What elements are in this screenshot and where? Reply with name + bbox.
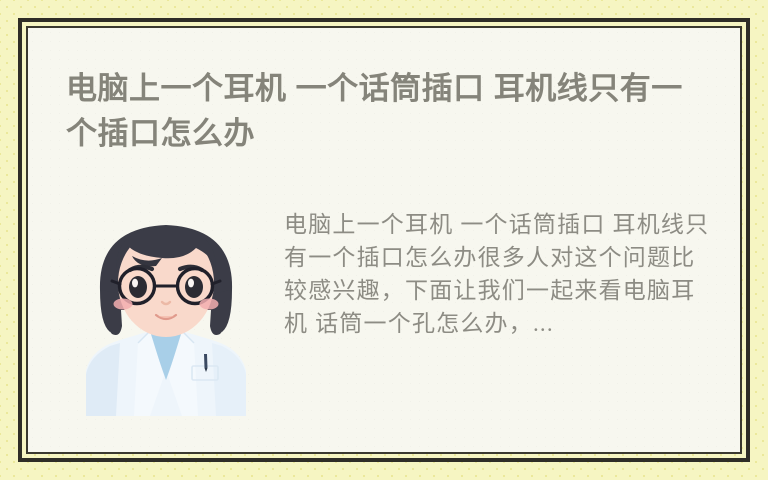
page-background: 电脑上一个耳机 一个话筒插口 耳机线只有一个插口怎么办 bbox=[0, 0, 768, 480]
article-card: 电脑上一个耳机 一个话筒插口 耳机线只有一个插口怎么办 bbox=[26, 26, 742, 454]
page-title: 电脑上一个耳机 一个话筒插口 耳机线只有一个插口怎么办 bbox=[66, 66, 696, 156]
woman-with-glasses-in-lab-coat-icon bbox=[76, 198, 256, 416]
article-summary-text: 电脑上一个耳机 一个话筒插口 耳机线只有一个插口怎么办很多人对这个问题比较感兴趣… bbox=[284, 208, 742, 340]
article-content-row: 电脑上一个耳机 一个话筒插口 耳机线只有一个插口怎么办很多人对这个问题比较感兴趣… bbox=[28, 198, 742, 452]
